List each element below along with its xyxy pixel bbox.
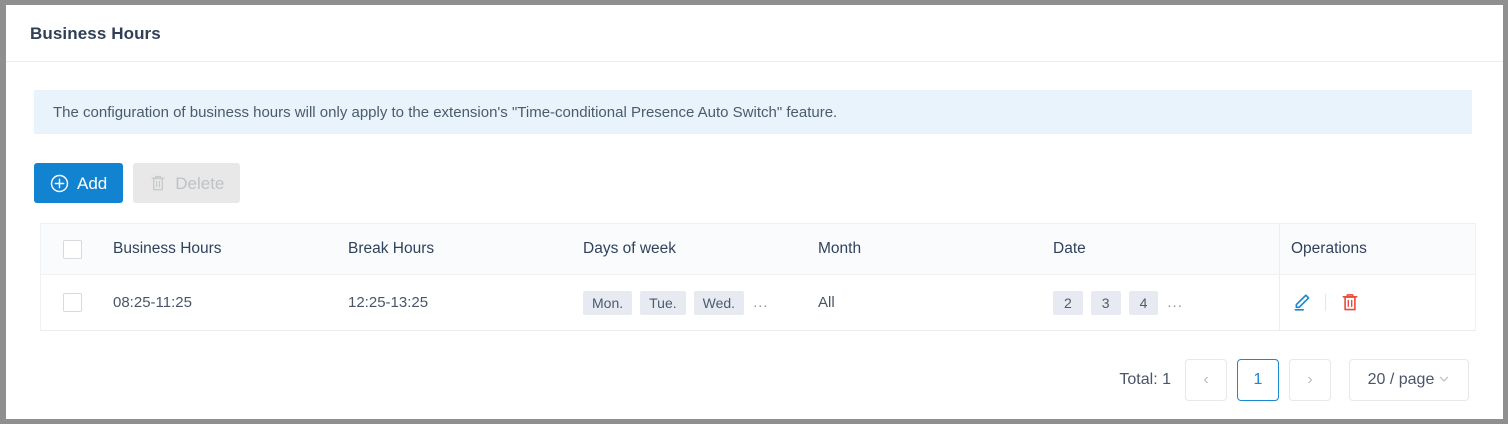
operations-separator <box>1325 294 1326 311</box>
delete-row-button[interactable] <box>1339 292 1360 313</box>
business-hours-card: Business Hours The configuration of busi… <box>6 5 1503 419</box>
column-header-month: Month <box>818 224 1048 274</box>
date-more-indicator[interactable]: ... <box>1166 294 1183 311</box>
delete-button-label: Delete <box>175 175 224 192</box>
operations-group <box>1291 292 1360 313</box>
day-tag: Mon. <box>583 291 632 315</box>
trash-icon <box>149 174 167 193</box>
select-all-checkbox[interactable] <box>63 240 82 259</box>
days-of-week-tags: Mon. Tue. Wed. ... <box>583 291 769 315</box>
date-tags: 2 3 4 ... <box>1053 291 1183 315</box>
delete-button[interactable]: Delete <box>133 163 240 203</box>
cell-business-hours: 08:25-11:25 <box>113 275 343 330</box>
days-of-week-more-indicator[interactable]: ... <box>752 294 769 311</box>
cell-days-of-week: Mon. Tue. Wed. ... <box>583 275 818 330</box>
column-header-date: Date <box>1053 224 1278 274</box>
row-select-cell <box>63 275 113 330</box>
pagination-prev-button[interactable]: ‹ <box>1185 359 1227 401</box>
pagination-total: Total: 1 <box>1119 371 1171 389</box>
add-button-label: Add <box>77 175 107 192</box>
page-size-label: 20 / page <box>1368 371 1435 389</box>
column-header-operations: Operations <box>1279 224 1476 274</box>
row-select-checkbox[interactable] <box>63 293 82 312</box>
column-header-days-of-week: Days of week <box>583 224 818 274</box>
page-title: Business Hours <box>30 24 161 44</box>
card-header: Business Hours <box>6 5 1503 62</box>
day-tag: Tue. <box>640 291 686 315</box>
add-button[interactable]: Add <box>34 163 123 203</box>
pagination-page-1[interactable]: 1 <box>1237 359 1279 401</box>
edit-row-button[interactable] <box>1291 292 1312 313</box>
column-header-business-hours: Business Hours <box>113 224 343 274</box>
day-tag: Wed. <box>694 291 744 315</box>
select-all-cell <box>63 224 113 274</box>
column-header-break-hours: Break Hours <box>348 224 578 274</box>
cell-break-hours: 12:25-13:25 <box>348 275 578 330</box>
page-size-select[interactable]: 20 / page <box>1349 359 1469 401</box>
screenshot-frame: Business Hours The configuration of busi… <box>0 0 1508 424</box>
date-tag: 2 <box>1053 291 1083 315</box>
business-hours-table: Business Hours Break Hours Days of week … <box>40 223 1476 331</box>
info-banner-text: The configuration of business hours will… <box>34 104 837 121</box>
cell-date: 2 3 4 ... <box>1053 275 1278 330</box>
chevron-down-icon <box>1438 373 1450 388</box>
info-banner: The configuration of business hours will… <box>34 90 1472 134</box>
date-tag: 3 <box>1091 291 1121 315</box>
table-row: 08:25-11:25 12:25-13:25 Mon. Tue. Wed. .… <box>41 275 1475 330</box>
plus-circle-icon <box>50 174 69 193</box>
toolbar: Add Delete <box>34 163 240 203</box>
pagination-next-button[interactable]: › <box>1289 359 1331 401</box>
pagination: Total: 1 ‹ 1 › 20 / page <box>1119 359 1469 401</box>
cell-month: All <box>818 275 1048 330</box>
table-header-row: Business Hours Break Hours Days of week … <box>41 224 1475 275</box>
date-tag: 4 <box>1129 291 1159 315</box>
cell-operations <box>1279 275 1476 330</box>
